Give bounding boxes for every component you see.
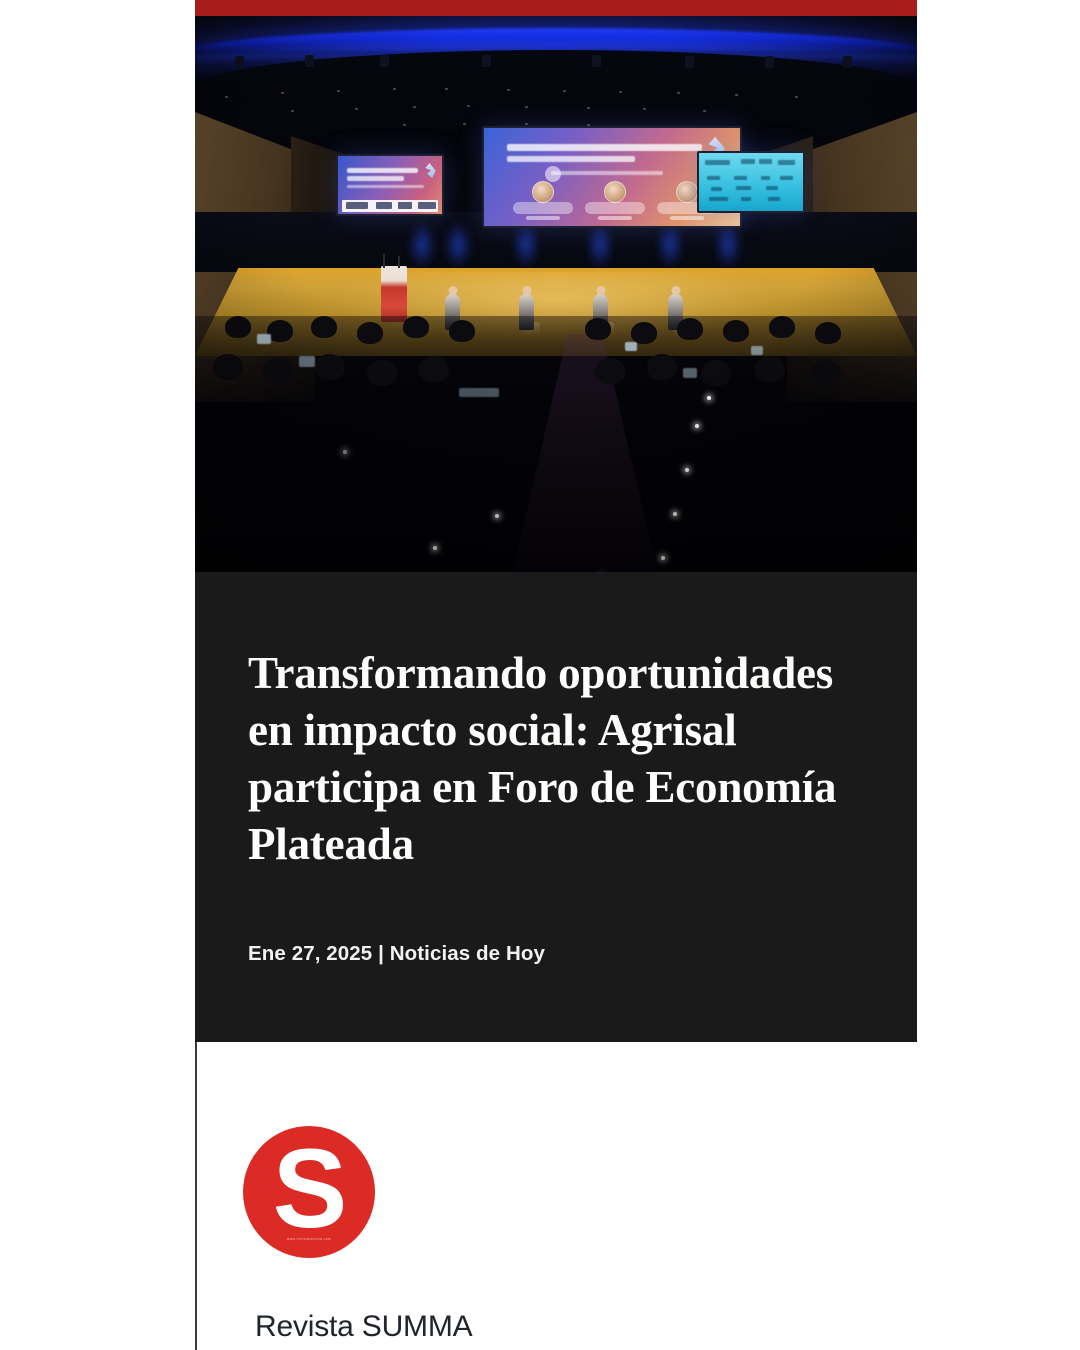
article-body: S www.revistasumma.com Revista SUMMA: [195, 1042, 917, 1350]
podium: [381, 266, 407, 322]
article-title: Transformando oportunidades en impacto s…: [248, 645, 868, 874]
source-name: Revista SUMMA: [255, 1310, 472, 1344]
hero-photo: [195, 16, 917, 572]
stage-screen-left: [336, 154, 444, 216]
sponsor-bar: [342, 200, 438, 212]
revista-summa-logo: S www.revistasumma.com: [243, 1126, 375, 1258]
page-gutter-left: [0, 0, 195, 1350]
article-meta: Ene 27, 2025 | Noticias de Hoy: [248, 942, 545, 966]
microphone-icon: [398, 256, 400, 268]
top-accent-bar: [195, 0, 917, 16]
logo-letter: S: [273, 1133, 346, 1245]
page-gutter-right: [917, 0, 1080, 1350]
microphone-icon: [383, 254, 385, 268]
article-header-card: Transformando oportunidades en impacto s…: [195, 572, 917, 1042]
logo-microtext: www.revistasumma.com: [287, 1237, 332, 1241]
stage-screen-right: [697, 151, 805, 213]
article-card-page: Transformando oportunidades en impacto s…: [0, 0, 1080, 1350]
